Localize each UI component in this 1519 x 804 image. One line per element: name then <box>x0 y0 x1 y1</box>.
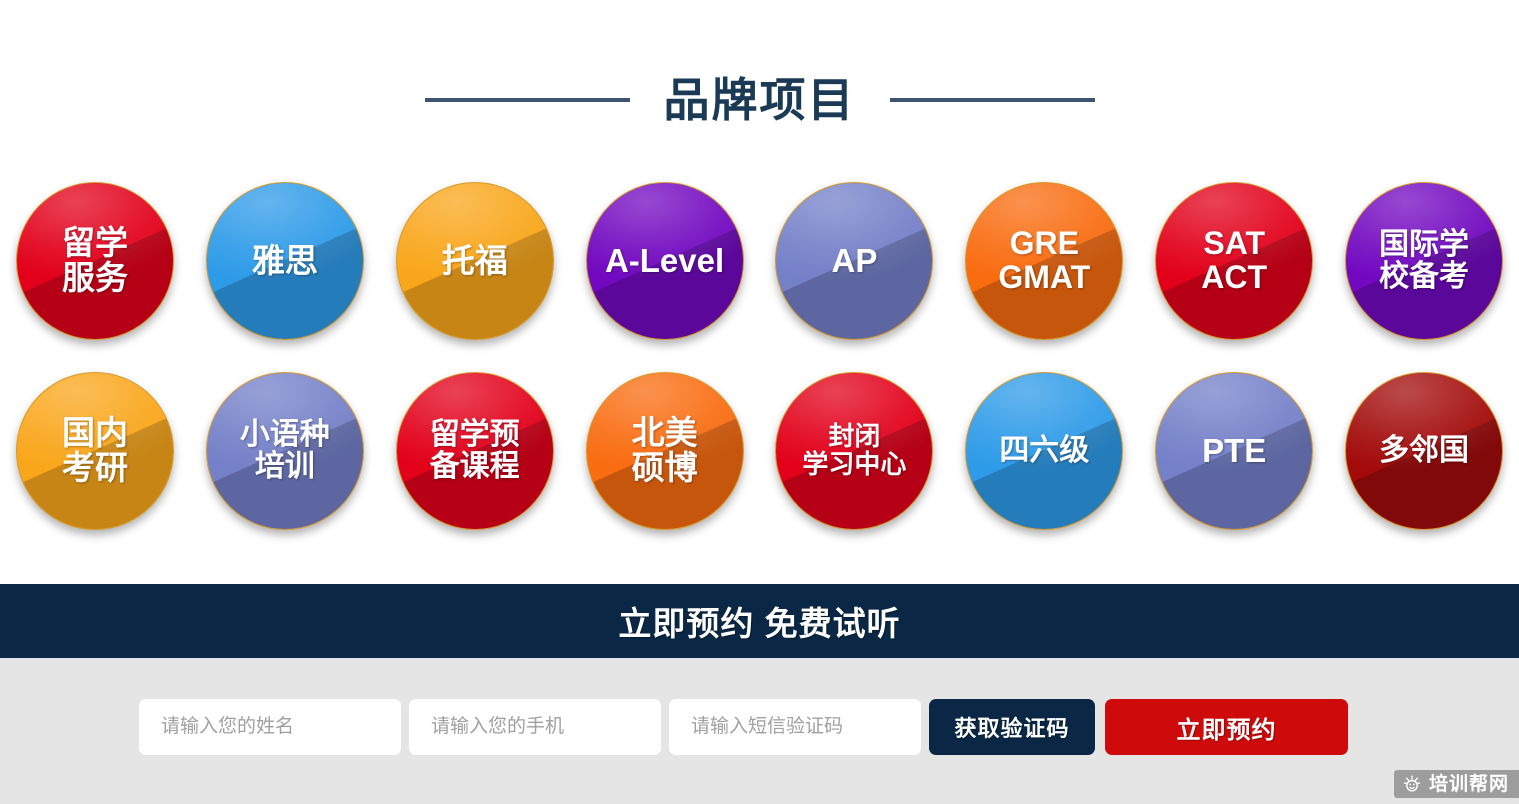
program-label: 封闭 学习中心 <box>802 423 906 478</box>
program-label: 留学预 备课程 <box>430 419 520 483</box>
program-circle-international-school-prep[interactable]: 国际学 校备考 <box>1345 182 1503 340</box>
submit-booking-button[interactable]: 立即预约 <box>1105 699 1348 755</box>
name-input[interactable] <box>139 699 401 755</box>
program-cell: 封闭 学习中心 <box>760 372 950 562</box>
program-circle-ielts[interactable]: 雅思 <box>206 182 364 340</box>
program-cell: 雅思 <box>190 182 380 372</box>
program-circle-sat-act[interactable]: SAT ACT <box>1155 182 1313 340</box>
program-cell: 多邻国 <box>1329 372 1519 562</box>
program-circle-pte[interactable]: PTE <box>1155 372 1313 530</box>
program-row-2: 国内 考研小语种 培训留学预 备课程北美 硕博封闭 学习中心四六级PTE多邻国 <box>0 372 1519 562</box>
program-circle-cet-4-6[interactable]: 四六级 <box>965 372 1123 530</box>
program-grid: 留学 服务雅思托福A-LevelAPGRE GMATSAT ACT国际学 校备考… <box>0 182 1519 562</box>
program-cell: 小语种 培训 <box>190 372 380 562</box>
program-circle-toefl[interactable]: 托福 <box>396 182 554 340</box>
title-rule-left <box>425 98 630 102</box>
program-cell: 四六级 <box>949 372 1139 562</box>
program-circle-a-level[interactable]: A-Level <box>586 182 744 340</box>
smiley-sun-icon <box>1402 774 1422 794</box>
program-cell: A-Level <box>570 182 760 372</box>
sms-code-input[interactable] <box>669 699 921 755</box>
program-circle-ap[interactable]: AP <box>775 182 933 340</box>
program-cell: GRE GMAT <box>949 182 1139 372</box>
site-watermark: 培训帮网 <box>1394 770 1519 798</box>
program-circle-domestic-postgrad-exam[interactable]: 国内 考研 <box>16 372 174 530</box>
booking-form: 获取验证码 立即预约 <box>139 699 1348 755</box>
program-label: 多邻国 <box>1379 435 1469 467</box>
program-label: 四六级 <box>999 435 1089 467</box>
program-label: AP <box>832 244 878 279</box>
program-circle-north-america-masters-phd[interactable]: 北美 硕博 <box>586 372 744 530</box>
program-label: GRE GMAT <box>998 227 1090 295</box>
program-cell: PTE <box>1139 372 1329 562</box>
program-cell: 北美 硕博 <box>570 372 760 562</box>
booking-form-zone: 获取验证码 立即预约 <box>0 658 1519 804</box>
program-circle-study-abroad-prep-course[interactable]: 留学预 备课程 <box>396 372 554 530</box>
phone-input[interactable] <box>409 699 661 755</box>
program-label: SAT ACT <box>1201 227 1267 295</box>
program-label: 雅思 <box>252 244 318 279</box>
program-cell: SAT ACT <box>1139 182 1329 372</box>
program-circle-closed-study-center[interactable]: 封闭 学习中心 <box>775 372 933 530</box>
program-label: PTE <box>1202 434 1266 469</box>
program-label: A-Level <box>605 244 724 279</box>
program-row-1: 留学 服务雅思托福A-LevelAPGRE GMATSAT ACT国际学 校备考 <box>0 182 1519 372</box>
program-circle-minor-language-training[interactable]: 小语种 培训 <box>206 372 364 530</box>
page-title: 品牌项目 <box>630 75 890 126</box>
program-label: 国内 考研 <box>62 416 128 486</box>
program-circle-duolingo[interactable]: 多邻国 <box>1345 372 1503 530</box>
program-circle-gre-gmat[interactable]: GRE GMAT <box>965 182 1123 340</box>
program-label: 北美 硕博 <box>632 416 698 486</box>
brand-programs-page: 品牌项目 留学 服务雅思托福A-LevelAPGRE GMATSAT ACT国际… <box>0 0 1519 804</box>
program-label: 留学 服务 <box>62 226 128 296</box>
cta-banner-text: 立即预约 免费试听 <box>618 597 900 645</box>
program-label: 国际学 校备考 <box>1379 229 1469 293</box>
program-cell: AP <box>760 182 950 372</box>
program-label: 托福 <box>442 244 508 279</box>
program-cell: 留学 服务 <box>0 182 190 372</box>
section-header: 品牌项目 <box>0 62 1519 138</box>
watermark-label: 培训帮网 <box>1429 775 1509 794</box>
cta-banner: 立即预约 免费试听 <box>0 584 1519 658</box>
title-rule-right <box>890 98 1095 102</box>
program-circle-study-abroad-service[interactable]: 留学 服务 <box>16 182 174 340</box>
get-sms-code-button[interactable]: 获取验证码 <box>929 699 1095 755</box>
program-cell: 留学预 备课程 <box>380 372 570 562</box>
program-label: 小语种 培训 <box>240 419 330 483</box>
program-cell: 国内 考研 <box>0 372 190 562</box>
program-cell: 托福 <box>380 182 570 372</box>
program-cell: 国际学 校备考 <box>1329 182 1519 372</box>
